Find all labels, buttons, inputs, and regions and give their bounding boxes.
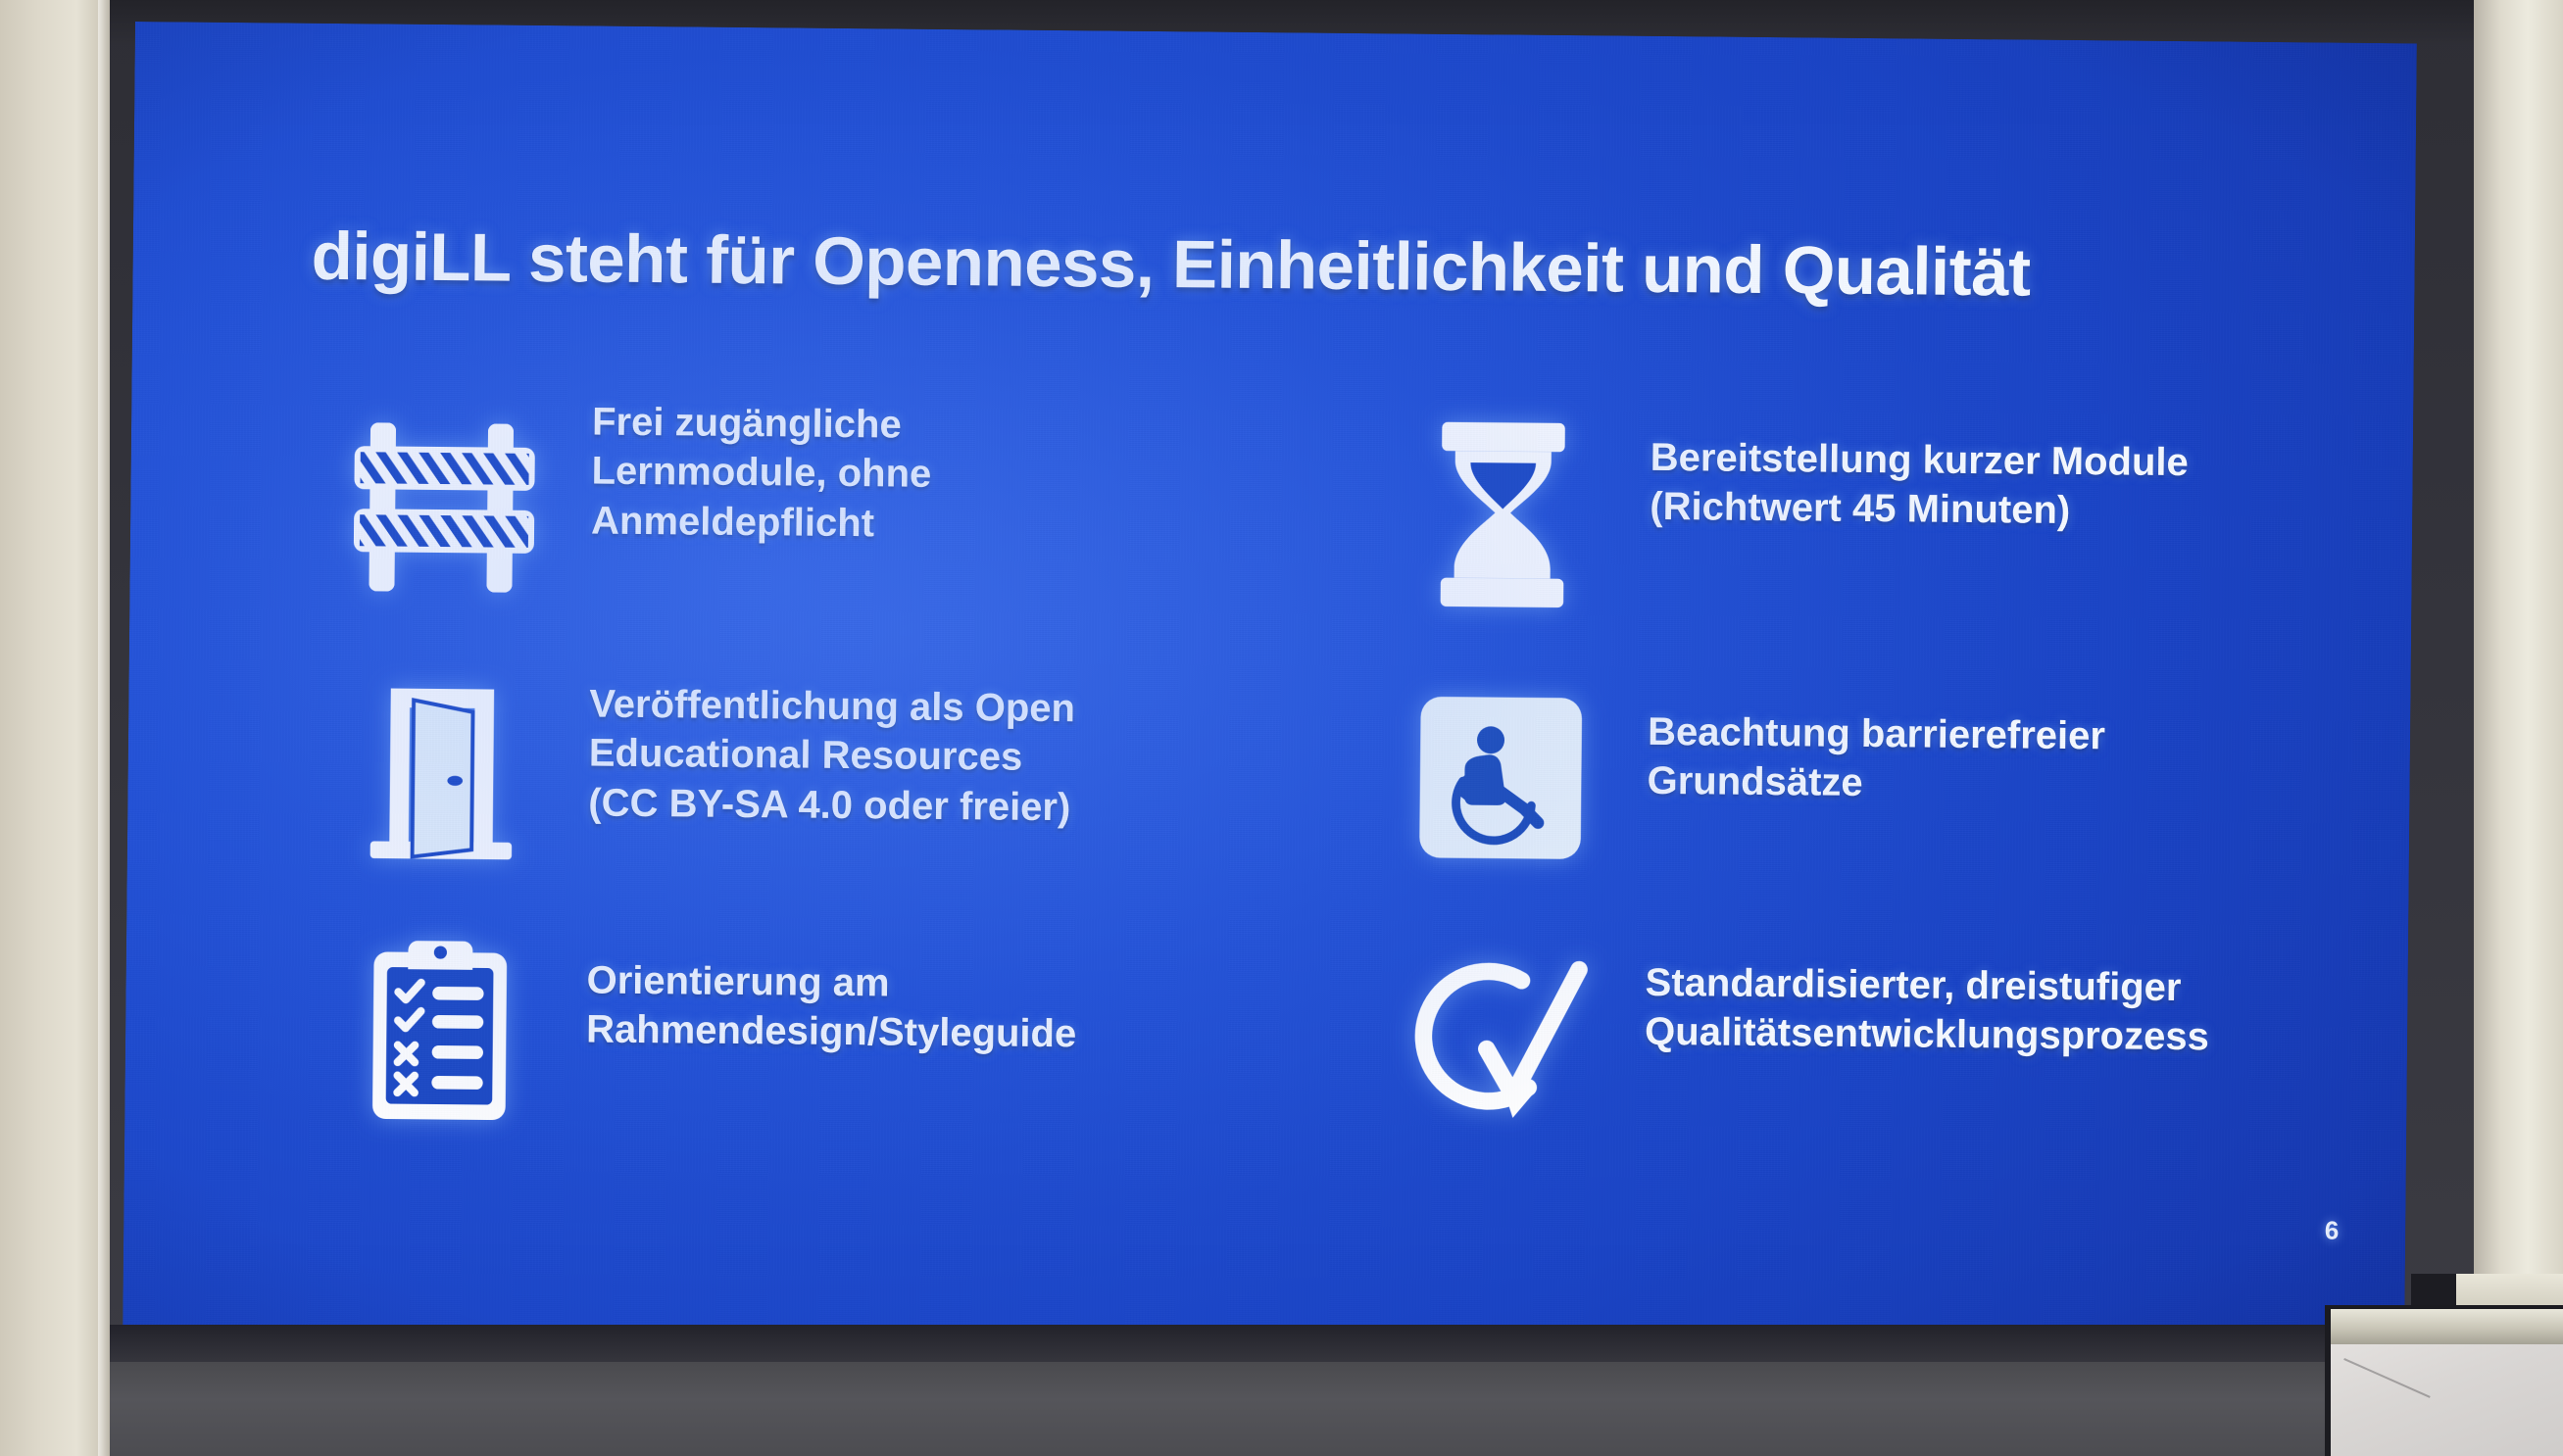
clipboard-checklist-icon	[291, 916, 587, 1144]
hourglass-icon	[1355, 401, 1651, 629]
feature-line: Orientierung am	[586, 955, 1077, 1009]
slide-title: digiLL steht für Openness, Einheitlichke…	[311, 218, 2331, 315]
slide-feature-grid: Frei zugängliche Lernmodule, ohne Anmeld…	[291, 391, 2367, 1198]
feature-text: Standardisierter, dreistufiger Qualitäts…	[1645, 929, 2210, 1062]
flipchart-rail	[2331, 1309, 2563, 1344]
feature-line: Veröffentlichung als Open	[589, 679, 1075, 733]
feature-item-frei-zugaengliche-lernmodule: Frei zugängliche Lernmodule, ohne Anmeld…	[296, 391, 1308, 663]
feature-line: Bereitstellung kurzer Module	[1651, 433, 2189, 488]
quality-cycle-check-icon	[1350, 926, 1646, 1154]
wall-right	[2474, 0, 2563, 1456]
feature-line: Educational Resources	[589, 729, 1075, 783]
feature-text: Frei zugängliche Lernmodule, ohne Anmeld…	[591, 393, 932, 548]
feature-text: Bereitstellung kurzer Module (Richtwert …	[1650, 404, 2189, 537]
feature-item-beachtung-barrierefreier-grundsaetze: Beachtung barrierefreier Grundsätze	[1352, 663, 2364, 936]
feature-line: Rahmendesign/Styleguide	[586, 1005, 1077, 1059]
wall-left	[0, 0, 110, 1456]
slide-page-number: 6	[2325, 1216, 2340, 1246]
feature-line: Grundsätze	[1647, 756, 2104, 810]
feature-item-standardisierter-qualitaetsprozess: Standardisierter, dreistufiger Qualitäts…	[1350, 926, 2362, 1198]
feature-text: Orientierung am Rahmendesign/Styleguide	[586, 918, 1077, 1059]
feature-line: Anmeldepflicht	[591, 496, 931, 549]
feature-line: Beachtung barrierefreier	[1648, 707, 2105, 761]
feature-item-bereitstellung-kurzer-module: Bereitstellung kurzer Module (Richtwert …	[1355, 401, 2367, 673]
flipchart-paper	[2331, 1344, 2563, 1456]
feature-item-orientierung-am-rahmendesign: Orientierung am Rahmendesign/Styleguide	[291, 916, 1304, 1189]
feature-line: Standardisierter, dreistufiger	[1645, 958, 2209, 1013]
feature-line: (Richtwert 45 Minuten)	[1650, 482, 2188, 537]
feature-line: (CC BY-SA 4.0 oder freier)	[588, 778, 1074, 832]
road-barrier-icon	[296, 391, 592, 619]
feature-line: Frei zugängliche	[592, 397, 932, 450]
open-door-icon	[294, 654, 590, 882]
feature-line: Lernmodule, ohne	[591, 447, 931, 500]
floor-strip	[110, 1362, 2474, 1456]
feature-text: Veröffentlichung als Open Educational Re…	[588, 655, 1075, 832]
projected-slide: digiLL steht für Openness, Einheitlichke…	[123, 22, 2417, 1356]
wheelchair-accessibility-icon	[1353, 663, 1649, 892]
slide-content: digiLL steht für Openness, Einheitlichke…	[123, 22, 2417, 1356]
presentation-room-scene: digiLL steht für Openness, Einheitlichke…	[0, 0, 2563, 1456]
feature-text: Beachtung barrierefreier Grundsätze	[1647, 666, 2105, 810]
feature-item-veroeffentlichung-als-oer: Veröffentlichung als Open Educational Re…	[293, 654, 1306, 926]
feature-line: Qualitätsentwicklungsprozess	[1645, 1007, 2209, 1062]
